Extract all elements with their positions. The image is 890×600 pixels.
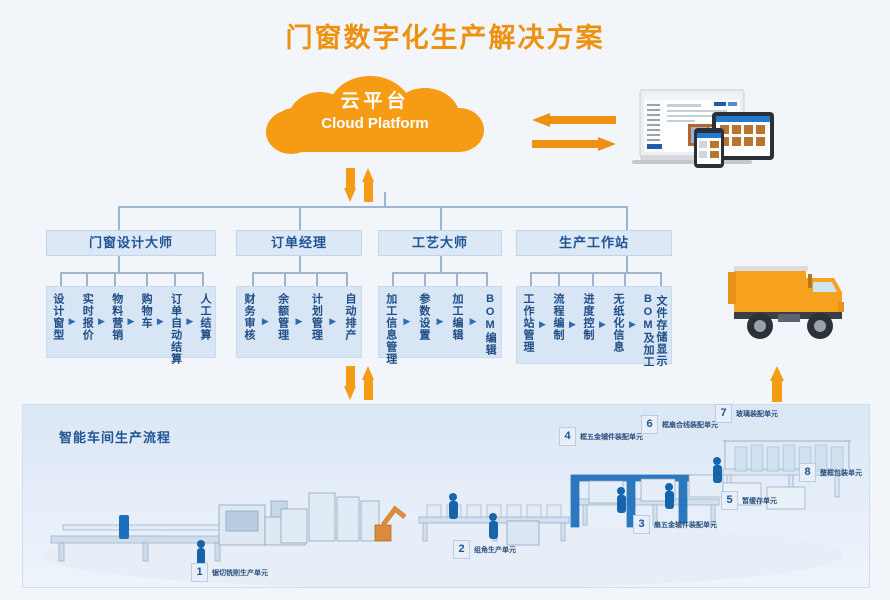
tree-drop — [299, 206, 301, 230]
module-group-title: 门窗设计大师 — [46, 230, 216, 256]
module-item[interactable]: 订单自动结算 — [169, 293, 182, 365]
module-group-title: 生产工作站 — [516, 230, 672, 256]
cloud-label: 云平台 Cloud Platform — [266, 90, 484, 134]
module-item[interactable]: 物料营销 — [110, 293, 123, 341]
arrow-up-icon — [362, 168, 375, 202]
module-item-label: 文件存储显示 — [654, 295, 667, 367]
workshop-unit-label: 扇五金辅件装配单元 — [654, 520, 717, 530]
module-group-items: 设计窗型 ▶ 实时报价 ▶ 物料营销 ▶ 购物车 ▶ 订单自动结算 ▶ 人工结算 — [46, 286, 216, 358]
module-item-label: 实时报价 — [80, 293, 93, 341]
chevron-right-icon: ▶ — [98, 316, 105, 327]
arrow-modules-to-workshop — [344, 366, 384, 400]
module-item-label: 购物车 — [139, 293, 152, 329]
module-item[interactable]: 加工编辑 — [450, 293, 463, 341]
module-item[interactable]: 无纸化信息 — [611, 293, 624, 353]
workshop-unit-label: 锯切铣削生产单元 — [212, 568, 268, 578]
workshop-unit-label: 整框包装单元 — [820, 468, 862, 478]
workshop-unit-tag: 7 玻璃装配单元 — [715, 404, 778, 423]
module-item[interactable]: 人工结算 — [198, 293, 211, 341]
group-tick — [592, 272, 594, 286]
module-item-label: 流程编制 — [551, 293, 564, 341]
module-item[interactable]: 实时报价 — [80, 293, 93, 341]
group-stem — [440, 256, 442, 272]
module-item-label: 财务审核 — [242, 293, 255, 341]
chevron-right-icon: ▶ — [470, 316, 477, 327]
group-tick — [346, 272, 348, 286]
group-tick — [174, 272, 176, 286]
module-item[interactable]: 购物车 — [139, 293, 152, 329]
workshop-panel: 智能车间生产流程 — [22, 404, 870, 588]
module-item-label: 订单自动结算 — [169, 293, 182, 365]
delivery-truck — [716, 258, 866, 362]
workshop-unit-number: 5 — [721, 491, 738, 510]
group-tick — [424, 272, 426, 286]
tree-bus — [118, 206, 626, 208]
module-item-label: 设计窗型 — [51, 293, 64, 341]
workshop-unit-number: 1 — [191, 563, 208, 582]
module-group-items: 财务审核 ▶ 余额管理 ▶ 计划管理 ▶ 自动排产 — [236, 286, 362, 358]
chevron-right-icon: ▶ — [539, 319, 546, 330]
module-item-label: 参数设置 — [417, 293, 430, 341]
chevron-right-icon: ▶ — [157, 316, 164, 327]
chevron-right-icon: ▶ — [69, 316, 76, 327]
module-group-items: 加工信息管理 ▶ 参数设置 ▶ 加工编辑 ▶ BOM编辑 — [378, 286, 502, 358]
group-rail — [530, 272, 662, 274]
module-item[interactable]: 工作站管理 — [521, 293, 534, 353]
module-group-design: 门窗设计大师 设计窗型 ▶ 实时报价 ▶ 物料营销 ▶ 购物车 ▶ 订单自动结算… — [46, 230, 216, 256]
arrow-workshop-to-truck — [770, 366, 784, 402]
module-group-title: 订单经理 — [236, 230, 362, 256]
workshop-unit-number: 6 — [641, 415, 658, 434]
workshop-unit-tag: 8 整框包装单元 — [799, 463, 862, 482]
arrow-cloud-to-modules — [344, 168, 384, 202]
module-item[interactable]: 财务审核 — [242, 293, 255, 341]
module-item-label: BOM编辑 — [483, 293, 496, 356]
arrow-down-icon — [344, 168, 357, 202]
devices-mockup — [628, 84, 780, 168]
group-tick — [660, 272, 662, 286]
group-tick — [146, 272, 148, 286]
module-group-title: 工艺大师 — [378, 230, 502, 256]
module-item[interactable]: 进度控制 — [581, 293, 594, 341]
module-item-label: 余额管理 — [276, 293, 289, 341]
workshop-unit-tag: 5 暂缓存单元 — [721, 491, 777, 510]
workshop-unit-number: 8 — [799, 463, 816, 482]
workshop-unit-tag: 1 锯切铣削生产单元 — [191, 563, 268, 582]
workshop-unit-tag: 2 组角生产单元 — [453, 540, 516, 559]
group-tick — [392, 272, 394, 286]
group-rail — [60, 272, 204, 274]
workshop-unit-label: 框五金辅件装配单元 — [580, 432, 643, 442]
group-tick — [456, 272, 458, 286]
chevron-right-icon: ▶ — [403, 316, 410, 327]
module-item-label: 进度控制 — [581, 293, 594, 341]
group-tick — [60, 272, 62, 286]
chevron-right-icon: ▶ — [599, 319, 606, 330]
workshop-unit-tag: 6 框扇合线装配单元 — [641, 415, 718, 434]
workshop-unit-label: 组角生产单元 — [474, 545, 516, 555]
module-group-items: 工作站管理 ▶ 流程编制 ▶ 进度控制 ▶ 无纸化信息 ▶ BOM及加工 文件存… — [516, 286, 672, 364]
module-item-label: BOM及加工 — [641, 293, 654, 368]
group-rail — [252, 272, 348, 274]
group-stem — [299, 256, 301, 272]
module-item[interactable]: 流程编制 — [551, 293, 564, 341]
module-item[interactable]: 计划管理 — [309, 293, 322, 341]
chevron-right-icon: ▶ — [437, 316, 444, 327]
module-item[interactable]: 余额管理 — [276, 293, 289, 341]
module-item-label: 工作站管理 — [521, 293, 534, 353]
arrow-up-icon — [362, 366, 375, 400]
workshop-unit-tag: 4 框五金辅件装配单元 — [559, 427, 643, 446]
module-item-label: 人工结算 — [198, 293, 211, 341]
workshop-unit-label: 玻璃装配单元 — [736, 409, 778, 419]
module-group-order: 订单经理 财务审核 ▶ 余额管理 ▶ 计划管理 ▶ 自动排产 — [236, 230, 362, 256]
group-tick — [114, 272, 116, 286]
group-tick — [486, 272, 488, 286]
module-item-label: 无纸化信息 — [611, 293, 624, 353]
arrow-left-icon — [532, 113, 616, 127]
group-tick — [624, 272, 626, 286]
group-tick — [284, 272, 286, 286]
chevron-right-icon: ▶ — [569, 319, 576, 330]
workshop-unit-number: 7 — [715, 404, 732, 423]
module-item-label: 加工编辑 — [450, 293, 463, 341]
chevron-right-icon: ▶ — [127, 316, 134, 327]
group-tick — [316, 272, 318, 286]
module-item[interactable]: 自动排产 — [343, 293, 356, 341]
workshop-unit-number: 3 — [633, 515, 650, 534]
workshop-unit-label: 框扇合线装配单元 — [662, 420, 718, 430]
module-item[interactable]: 加工信息管理 — [384, 293, 397, 365]
chevron-right-icon: ▶ — [262, 316, 269, 327]
group-tick — [558, 272, 560, 286]
tree-drop — [626, 206, 628, 230]
chevron-right-icon: ▶ — [296, 316, 303, 327]
cloud-label-en: Cloud Platform — [266, 114, 484, 134]
arrow-right-icon — [532, 137, 616, 151]
group-rail — [392, 272, 488, 274]
module-item[interactable]: BOM及加工 文件存储显示 — [641, 293, 667, 368]
tree-drop — [118, 206, 120, 230]
module-item[interactable]: 设计窗型 — [51, 293, 64, 341]
group-tick — [202, 272, 204, 286]
module-item-label: 自动排产 — [343, 293, 356, 341]
module-item[interactable]: 参数设置 — [417, 293, 430, 341]
workshop-unit-number: 4 — [559, 427, 576, 446]
module-group-workstation: 生产工作站 工作站管理 ▶ 流程编制 ▶ 进度控制 ▶ 无纸化信息 ▶ BOM及… — [516, 230, 672, 256]
workshop-unit-tag: 3 扇五金辅件装配单元 — [633, 515, 717, 534]
chevron-right-icon: ▶ — [186, 316, 193, 327]
group-stem — [626, 256, 628, 272]
module-item-label: 物料营销 — [110, 293, 123, 341]
page-title: 门窗数字化生产解决方案 — [0, 16, 890, 55]
arrow-cloud-devices — [532, 113, 616, 159]
group-tick — [86, 272, 88, 286]
module-item[interactable]: BOM编辑 — [483, 293, 496, 356]
cloud-platform-node: 云平台 Cloud Platform — [266, 74, 484, 158]
workshop-unit-number: 2 — [453, 540, 470, 559]
group-tick — [252, 272, 254, 286]
phone-device — [694, 128, 724, 168]
module-item-label: 加工信息管理 — [384, 293, 397, 365]
chevron-right-icon: ▶ — [329, 316, 336, 327]
chevron-right-icon: ▶ — [629, 319, 636, 330]
module-group-process: 工艺大师 加工信息管理 ▶ 参数设置 ▶ 加工编辑 ▶ BOM编辑 — [378, 230, 502, 256]
tree-stem — [384, 192, 386, 206]
tree-drop — [440, 206, 442, 230]
arrow-down-icon — [344, 366, 357, 400]
group-stem — [118, 256, 120, 272]
cloud-label-cn: 云平台 — [266, 90, 484, 114]
module-item-label: 计划管理 — [309, 293, 322, 341]
workshop-unit-label: 暂缓存单元 — [742, 496, 777, 506]
group-tick — [530, 272, 532, 286]
